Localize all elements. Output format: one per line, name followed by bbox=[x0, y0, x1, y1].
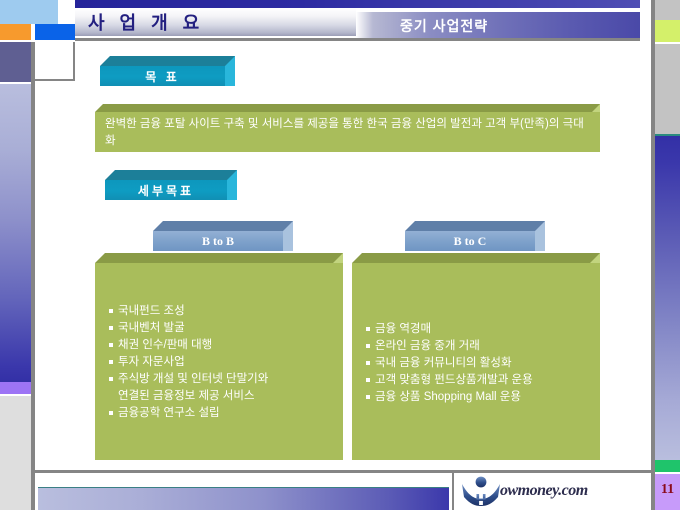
column-header-b2c-face: B to C bbox=[405, 231, 535, 251]
goal-label-box-top bbox=[100, 56, 235, 66]
list-item: 투자 자문사업 bbox=[109, 354, 335, 370]
goal-label-box: 목 표 bbox=[100, 56, 235, 86]
content-panel-b2b-top bbox=[95, 253, 343, 263]
detail-label-box-face: 세부목표 bbox=[105, 180, 227, 200]
content-panel-b2b-face: 국내펀드 조성국내벤처 발굴채권 인수/판매 대행투자 자문사업주식방 개설 및… bbox=[95, 263, 343, 460]
content-panel-b2b: 국내펀드 조성국내벤처 발굴채권 인수/판매 대행투자 자문사업주식방 개설 및… bbox=[95, 253, 343, 460]
deco-left-gradient-bar bbox=[0, 84, 31, 382]
list-item: 주식방 개설 및 인터넷 단말기와 bbox=[109, 371, 335, 387]
detail-label-box-top bbox=[105, 170, 237, 180]
page-number: 11 bbox=[655, 480, 680, 500]
deco-block-violet bbox=[0, 382, 31, 394]
goal-statement-box-top bbox=[95, 104, 600, 112]
goal-label-box-face: 목 표 bbox=[100, 66, 225, 86]
deco-block-grey bbox=[0, 396, 31, 510]
list-item: 국내펀드 조성 bbox=[109, 303, 335, 319]
howmoney-figure-icon bbox=[458, 475, 504, 507]
column-header-b2c-top bbox=[405, 221, 545, 231]
list-item: 금융 상품 Shopping Mall 운용 bbox=[366, 389, 592, 405]
detail-label-box: 세부목표 bbox=[105, 170, 237, 200]
detail-label-text: 세부목표 bbox=[138, 182, 194, 199]
column-header-b2c: B to C bbox=[405, 221, 545, 251]
deco-right-lime bbox=[655, 20, 680, 42]
footer-gradient-bar bbox=[38, 488, 449, 510]
deco-right-grey-top bbox=[655, 0, 680, 20]
bullet-list-b2b: 국내펀드 조성국내벤처 발굴채권 인수/판매 대행투자 자문사업주식방 개설 및… bbox=[109, 303, 335, 421]
header-bottom-rule bbox=[75, 38, 640, 41]
column-header-b2c-text: B to C bbox=[454, 234, 487, 249]
page-title: 사 업 개 요 bbox=[88, 10, 338, 36]
goal-statement-box-face: 완벽한 금융 포탈 사이트 구축 및 서비스를 제공을 통한 한국 금융 산업의… bbox=[95, 112, 600, 152]
howmoney-logo-text: owmoney.com bbox=[500, 482, 588, 500]
goal-label-text: 목 표 bbox=[145, 68, 179, 85]
deco-white-box bbox=[35, 42, 75, 81]
column-header-b2b: B to B bbox=[153, 221, 293, 251]
column-header-b2b-face: B to B bbox=[153, 231, 283, 251]
slide-canvas: 사 업 개 요 중기 사업전략 11 목 표 완벽한 금융 포탈 사이트 구축 … bbox=[0, 0, 680, 510]
howmoney-logo: owmoney.com bbox=[458, 474, 638, 508]
list-item: 채권 인수/판매 대행 bbox=[109, 337, 335, 353]
column-header-b2b-top bbox=[153, 221, 293, 231]
list-item: 국내 금융 커뮤니티의 활성화 bbox=[366, 355, 592, 371]
header-navy-strip bbox=[75, 0, 640, 8]
deco-right-green bbox=[655, 460, 680, 472]
deco-right-gradient-bar bbox=[655, 136, 680, 460]
content-panel-b2c-top bbox=[352, 253, 600, 263]
deco-block-slate bbox=[0, 42, 31, 82]
deco-block-orange bbox=[0, 24, 31, 40]
goal-statement-text: 완벽한 금융 포탈 사이트 구축 및 서비스를 제공을 통한 한국 금융 산업의… bbox=[105, 116, 590, 150]
goal-statement-box: 완벽한 금융 포탈 사이트 구축 및 서비스를 제공을 통한 한국 금융 산업의… bbox=[95, 104, 600, 152]
bullet-list-b2c: 금융 역경매온라인 금융 중개 거래국내 금융 커뮤니티의 활성화고객 맞춤형 … bbox=[366, 321, 592, 405]
column-header-b2b-text: B to B bbox=[202, 234, 234, 249]
left-vertical-rule bbox=[31, 42, 35, 510]
deco-right-grey-mid bbox=[655, 44, 680, 134]
deco-block-light-blue bbox=[0, 0, 58, 24]
list-item: 고객 맞춤형 펀드상품개발과 운용 bbox=[366, 372, 592, 388]
deco-block-blue bbox=[35, 24, 75, 40]
list-item: 금융 역경매 bbox=[366, 321, 592, 337]
list-item: 금융공학 연구소 설립 bbox=[109, 405, 335, 421]
content-panel-b2c: 금융 역경매온라인 금융 중개 거래국내 금융 커뮤니티의 활성화고객 맞춤형 … bbox=[352, 253, 600, 460]
right-vertical-rule bbox=[651, 0, 655, 510]
header-subtitle: 중기 사업전략 bbox=[400, 14, 640, 38]
list-item: 온라인 금융 중개 거래 bbox=[366, 338, 592, 354]
list-item: 국내벤처 발굴 bbox=[109, 320, 335, 336]
list-item: 연결된 금융정보 제공 서비스 bbox=[109, 388, 335, 404]
content-panel-b2c-face: 금융 역경매온라인 금융 중개 거래국내 금융 커뮤니티의 활성화고객 맞춤형 … bbox=[352, 263, 600, 460]
